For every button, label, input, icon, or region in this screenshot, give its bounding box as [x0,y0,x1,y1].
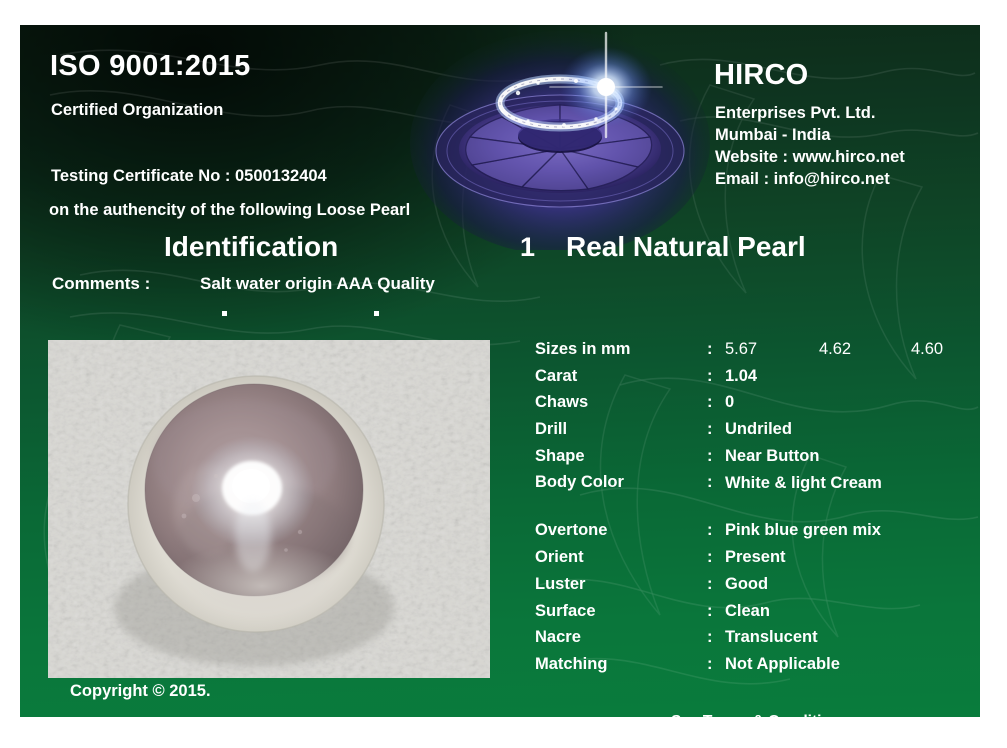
spec-value-shape: Near Button [725,447,819,466]
spec-value-carat: 1.04 [725,367,757,386]
spec-row-drill: Drill : Undriled [535,420,980,447]
spec-label-overtone: Overtone [535,521,607,540]
comments-label: Comments : [52,274,150,294]
comment-marker-dot-right [374,311,379,316]
spec-label-chaws: Chaws [535,393,588,412]
spec-colon: : [707,575,713,594]
item-name: Real Natural Pearl [566,231,806,263]
brand-location: Mumbai - India [715,126,831,145]
spec-colon: : [707,602,713,621]
spec-label-nacre: Nacre [535,628,581,647]
spec-colon: : [707,367,713,386]
brand-email[interactable]: Email : info@hirco.net [715,170,890,189]
spec-row-surface: Surface : Clean [535,602,980,629]
spec-row-carat: Carat : 1.04 [535,367,980,394]
spec-label-body-color: Body Color [535,473,624,492]
spec-row-luster: Luster : Good [535,575,980,602]
spec-value-nacre: Translucent [725,628,818,647]
spec-colon: : [707,447,713,466]
pearl-specimen-photo [48,340,490,678]
spec-value-size-3: 4.60 [911,340,943,359]
comments-value: Salt water origin AAA Quality [200,274,435,294]
brand-legal-entity: Enterprises Pvt. Ltd. [715,104,875,123]
spec-value-body-color: White & light Cream [725,473,925,494]
spec-label-drill: Drill [535,420,567,439]
specification-table: Sizes in mm : 5.67 4.62 4.60 Carat : 1.0… [535,340,980,682]
spec-colon: : [707,340,713,359]
authenticity-statement: on the authencity of the following Loose… [49,201,410,220]
brand-website[interactable]: Website : www.hirco.net [715,148,905,167]
spec-label-shape: Shape [535,447,585,466]
spec-label-carat: Carat [535,367,577,386]
spec-value-chaws: 0 [725,393,734,412]
spec-value-overtone: Pink blue green mix [725,521,881,540]
spec-row-body-color: Body Color : White & light Cream [535,473,980,521]
spec-label-matching: Matching [535,655,607,674]
identification-heading: Identification [164,231,338,263]
spec-row-chaws: Chaws : 0 [535,393,980,420]
spec-value-size-2: 4.62 [819,340,851,359]
spec-colon: : [707,420,713,439]
spec-row-shape: Shape : Near Button [535,447,980,474]
brand-name: HIRCO [714,59,808,92]
comment-marker-dot-left [222,311,227,316]
spec-value-drill: Undriled [725,420,792,439]
spec-colon: : [707,521,713,540]
spec-value-size-1: 5.67 [725,340,757,359]
spec-value-matching: Not Applicable [725,655,840,674]
iso-title: ISO 9001:2015 [50,50,251,83]
spec-label-surface: Surface [535,602,596,621]
spec-value-luster: Good [725,575,768,594]
spec-row-orient: Orient : Present [535,548,980,575]
spec-value-orient: Present [725,548,786,567]
spec-colon: : [707,473,713,492]
holographic-disc-graphic [410,25,710,250]
certificate-number: Testing Certificate No : 0500132404 [51,167,327,186]
certificate-card: ISO 9001:2015 Certified Organization Tes… [20,25,980,717]
item-number: 1 [520,232,535,263]
spec-colon: : [707,655,713,674]
spec-label-sizes: Sizes in mm [535,340,630,359]
spec-colon: : [707,628,713,647]
spec-row-sizes: Sizes in mm : 5.67 4.62 4.60 [535,340,980,367]
copyright-notice: Copyright © 2015. [70,682,211,701]
spec-colon: : [707,393,713,412]
terms-notice: See Terms & Conditions on reverse [671,713,932,717]
spec-row-overtone: Overtone : Pink blue green mix [535,521,980,548]
spec-colon: : [707,548,713,567]
certified-organization: Certified Organization [51,101,223,120]
spec-row-nacre: Nacre : Translucent [535,628,980,655]
spec-value-surface: Clean [725,602,770,621]
spec-row-matching: Matching : Not Applicable [535,655,980,682]
spec-label-orient: Orient [535,548,584,567]
spec-label-luster: Luster [535,575,585,594]
